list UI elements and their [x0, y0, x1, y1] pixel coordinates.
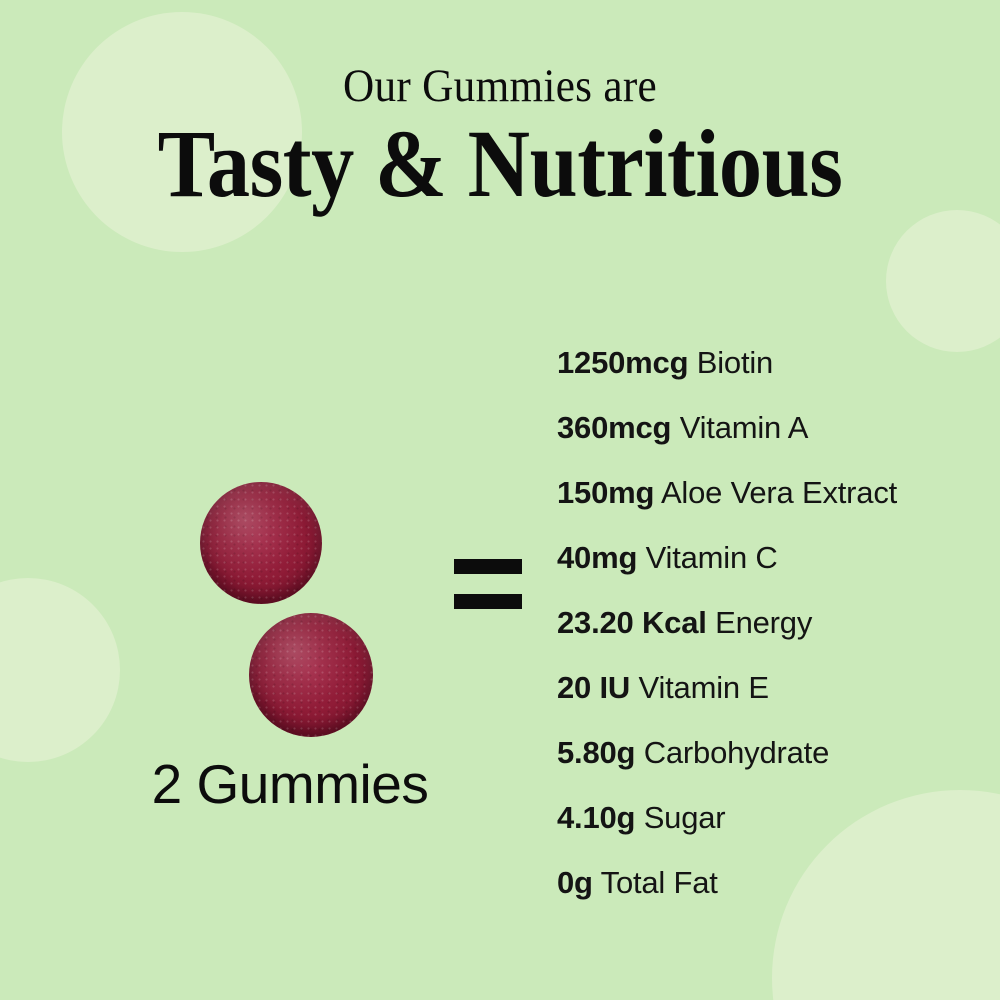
nutrition-label: Sugar [644, 800, 726, 835]
nutrition-row: 4.10g Sugar [557, 785, 997, 850]
gummy-illustration: 2 Gummies [130, 470, 450, 830]
nutrition-label: Carbohydrate [644, 735, 829, 770]
nutrition-row: 150mg Aloe Vera Extract [557, 460, 997, 525]
nutrition-infographic: Our Gummies are Tasty & Nutritious 2 Gum… [0, 0, 1000, 1000]
nutrition-amount: 40mg [557, 540, 637, 575]
nutrition-row: 1250mcg Biotin [557, 330, 997, 395]
nutrition-label: Vitamin E [639, 670, 769, 705]
nutrition-amount: 360mcg [557, 410, 671, 445]
nutrition-row: 360mcg Vitamin A [557, 395, 997, 460]
headline-line-2: Tasty & Nutritious [50, 116, 950, 212]
nutrition-label: Biotin [697, 345, 773, 380]
nutrition-amount: 4.10g [557, 800, 635, 835]
nutrition-label: Vitamin C [646, 540, 778, 575]
nutrition-row: 23.20 Kcal Energy [557, 590, 997, 655]
nutrition-amount: 0g [557, 865, 593, 900]
equals-bar-top [454, 559, 522, 574]
gummy-icon-top [200, 482, 322, 604]
headline-line-1: Our Gummies are [40, 62, 960, 112]
nutrition-amount: 23.20 Kcal [557, 605, 707, 640]
nutrition-row: 20 IU Vitamin E [557, 655, 997, 720]
nutrition-row: 40mg Vitamin C [557, 525, 997, 590]
gummy-icon-bottom [249, 613, 373, 737]
nutrition-label: Aloe Vera Extract [661, 475, 897, 510]
page-title: Our Gummies are Tasty & Nutritious [0, 62, 1000, 212]
nutrition-amount: 150mg [557, 475, 654, 510]
nutrition-list: 1250mcg Biotin 360mcg Vitamin A 150mg Al… [557, 330, 997, 915]
equals-bar-bottom [454, 594, 522, 609]
serving-caption: 2 Gummies [130, 752, 450, 816]
nutrition-label: Vitamin A [680, 410, 809, 445]
equals-icon [454, 559, 522, 609]
nutrition-label: Total Fat [601, 865, 718, 900]
nutrition-amount: 20 IU [557, 670, 630, 705]
nutrition-amount: 1250mcg [557, 345, 688, 380]
nutrition-row: 5.80g Carbohydrate [557, 720, 997, 785]
nutrition-row: 0g Total Fat [557, 850, 997, 915]
decorative-circle-bottom-left [0, 578, 120, 762]
nutrition-label: Energy [715, 605, 812, 640]
nutrition-amount: 5.80g [557, 735, 635, 770]
